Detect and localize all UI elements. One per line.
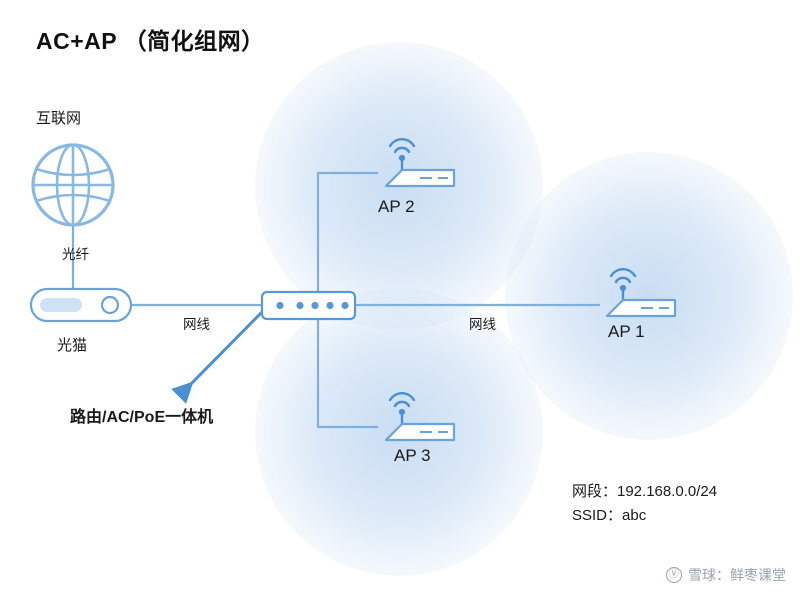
modem-icon xyxy=(31,289,131,321)
label-ap1: AP 1 xyxy=(608,322,645,342)
label-modem: 光猫 xyxy=(57,334,87,355)
access-point-icon-ap1 xyxy=(607,269,675,316)
label-internet: 互联网 xyxy=(36,107,81,128)
watermark: Ⓥ 雪球：鲜枣课堂 xyxy=(666,565,786,585)
watermark-text: 雪球：鲜枣课堂 xyxy=(688,565,786,585)
label-fiber: 光纤 xyxy=(62,243,89,263)
access-point-icon-ap3 xyxy=(386,393,454,440)
watermark-logo-icon: Ⓥ xyxy=(666,567,682,583)
access-point-icon-ap2 xyxy=(386,139,454,186)
label-lan-left: 网线 xyxy=(183,313,210,333)
link-lan-ap3 xyxy=(318,305,378,427)
globe-icon xyxy=(33,145,113,225)
router-switch-icon xyxy=(262,292,355,319)
network-info: 网段：192.168.0.0/24 SSID：abc xyxy=(572,480,717,528)
label-ap2: AP 2 xyxy=(378,197,415,217)
callout-router-ac-poe: 路由/AC/PoE一体机 xyxy=(70,403,213,427)
label-lan-right: 网线 xyxy=(469,313,496,333)
link-lan-ap2 xyxy=(318,173,378,305)
diagram-canvas: AC+AP （简化组网） xyxy=(0,0,800,595)
label-ap3: AP 3 xyxy=(394,446,431,466)
network-segment-line: 网段：192.168.0.0/24 xyxy=(572,480,717,504)
ssid-line: SSID：abc xyxy=(572,504,717,528)
